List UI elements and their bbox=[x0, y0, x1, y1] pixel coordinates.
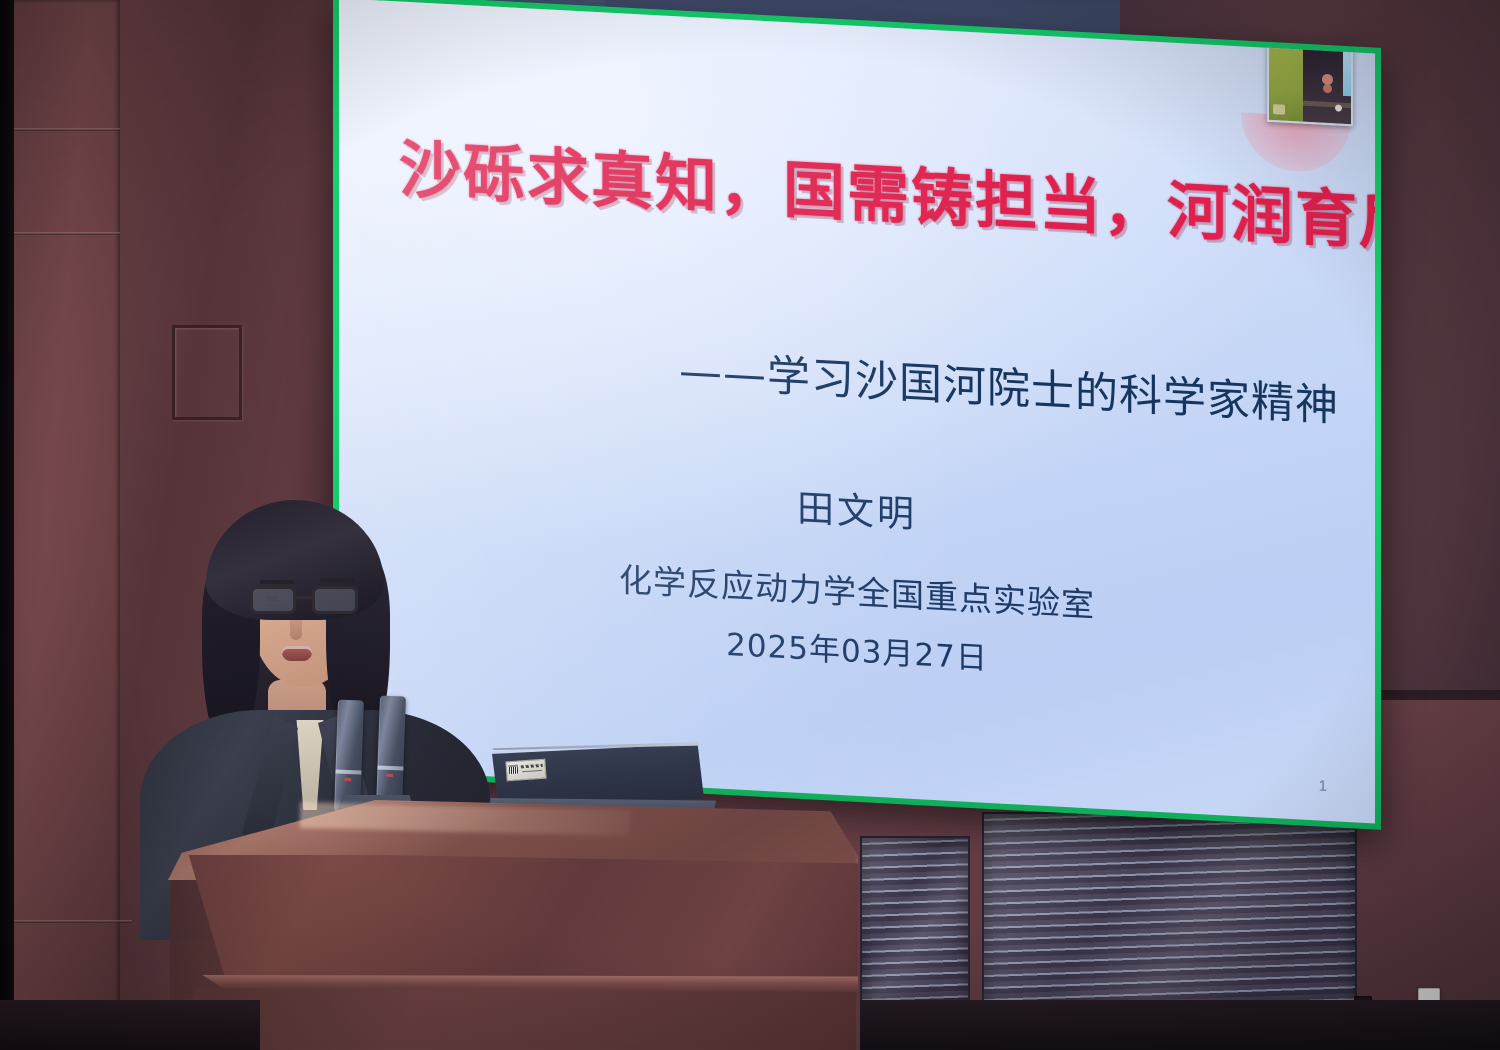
presenter-eyebrow-left bbox=[260, 580, 294, 584]
glasses-bridge bbox=[296, 596, 314, 599]
slide-subtitle: ——学习沙国河院士的科学家精神 bbox=[679, 336, 1375, 435]
left-wall-column bbox=[12, 0, 120, 1050]
presenter-eyebrow-right bbox=[320, 578, 354, 582]
slide-page-number: 1 bbox=[1319, 778, 1327, 795]
pip-remote-participant bbox=[1322, 74, 1333, 86]
floor-right bbox=[860, 1000, 1500, 1050]
pip-table-edge bbox=[1303, 100, 1351, 108]
pip-window-light bbox=[1343, 50, 1351, 96]
presentation-photo-scene: 沙砾求真知，国需铸担当，河润育后生 ——学习沙国河院士的科学家精神 田文明 化学… bbox=[0, 0, 1500, 1050]
floor-left bbox=[0, 1000, 260, 1050]
vent-sheen-left bbox=[862, 838, 968, 1002]
wall-vent-right bbox=[982, 812, 1357, 1008]
pip-video-window[interactable] bbox=[1267, 44, 1353, 127]
presenter-nose bbox=[290, 620, 302, 640]
microphone-right-indicator bbox=[386, 774, 393, 777]
frame-dark-edge bbox=[0, 0, 14, 1050]
wall-recessed-square bbox=[172, 325, 242, 420]
pip-video-right-pane bbox=[1303, 48, 1351, 125]
panel-seam-3 bbox=[0, 920, 132, 923]
glasses-lens-right bbox=[312, 586, 358, 614]
glasses-lens-left bbox=[250, 586, 296, 614]
microphone-left-band bbox=[335, 770, 361, 775]
microphone-right[interactable] bbox=[376, 696, 406, 809]
vent-sheen-right bbox=[984, 814, 1355, 1006]
podium-front-panel bbox=[168, 855, 858, 995]
wall-vent-left bbox=[860, 836, 970, 1004]
podium-base bbox=[176, 988, 856, 1050]
pip-light-dot bbox=[1335, 105, 1342, 112]
slide-title: 沙砾求真知，国需铸担当，河润育后生 bbox=[399, 130, 1339, 261]
microphone-right-band bbox=[377, 766, 403, 771]
pip-video-left-pane bbox=[1269, 46, 1303, 122]
presenter-mouth-speaking bbox=[282, 646, 312, 661]
presenter-glasses bbox=[250, 586, 364, 616]
laptop-asset-tag-sticker bbox=[505, 759, 546, 782]
microphone-left-indicator bbox=[344, 778, 351, 781]
panel-seam-2 bbox=[12, 232, 120, 235]
panel-seam-1 bbox=[12, 128, 120, 131]
